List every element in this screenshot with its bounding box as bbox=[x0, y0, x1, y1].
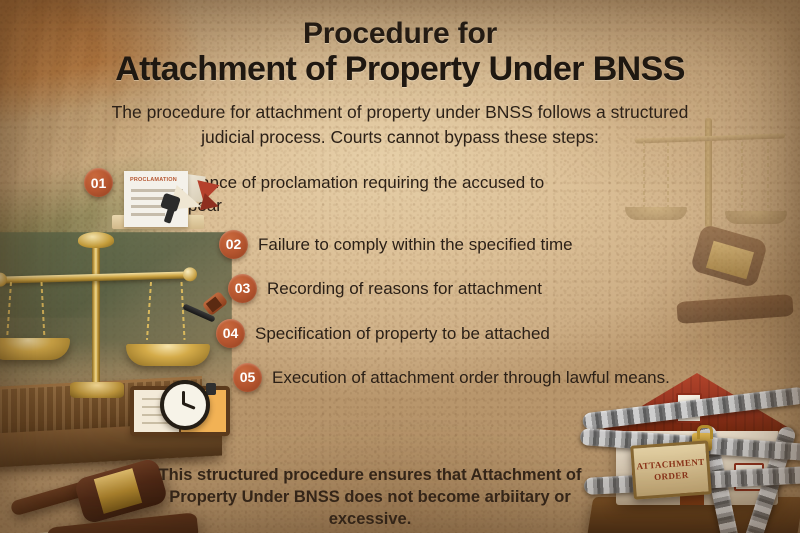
title-line-1: Procedure for bbox=[0, 18, 800, 49]
step-badge-03: 03 bbox=[228, 274, 257, 303]
footer-note: This structured procedure ensures that A… bbox=[140, 464, 600, 530]
title-line-2: Attachment of Property Under BNSS bbox=[0, 51, 800, 88]
step-badge-01: 01 bbox=[84, 168, 113, 197]
infographic-poster: ATTACHMENT ORDER Procedure for Attachmen… bbox=[0, 0, 800, 533]
step-text-02: Failure to comply within the specified t… bbox=[248, 230, 573, 256]
step-text-04: Specification of property to be attached bbox=[245, 319, 550, 345]
step-badge-02: 02 bbox=[219, 230, 248, 259]
proclamation-megaphone-icon bbox=[118, 171, 202, 233]
step-text-05: Execution of attachment order through la… bbox=[262, 363, 670, 389]
step-item-01: 01 Issuance of proclamation requiring th… bbox=[0, 168, 800, 218]
attachment-order-sign: ATTACHMENT ORDER bbox=[630, 440, 712, 499]
steps-list: 01 Issuance of proclamation requiring th… bbox=[0, 168, 800, 392]
step-badge-05: 05 bbox=[233, 363, 262, 392]
poster-heading: Procedure for Attachment of Property Und… bbox=[0, 18, 800, 88]
step-badge-04: 04 bbox=[216, 319, 245, 348]
step-text-03: Recording of reasons for attachment bbox=[257, 274, 542, 300]
step-item-02: 02 Failure to comply within the specifie… bbox=[0, 230, 800, 259]
notebook-clip bbox=[206, 383, 216, 395]
clock-icon bbox=[160, 380, 210, 430]
notebook-clock-icon bbox=[130, 386, 232, 438]
step-item-05: 05 Execution of attachment order through… bbox=[0, 363, 800, 392]
attachment-sign-line-2: ORDER bbox=[654, 470, 689, 481]
attachment-sign-line-1: ATTACHMENT bbox=[636, 457, 705, 471]
step-item-04: 04 Specification of property to be attac… bbox=[0, 319, 800, 348]
step-item-03: 03 Recording of reasons for attachment bbox=[0, 274, 800, 303]
intro-paragraph: The procedure for attachment of property… bbox=[100, 100, 700, 150]
